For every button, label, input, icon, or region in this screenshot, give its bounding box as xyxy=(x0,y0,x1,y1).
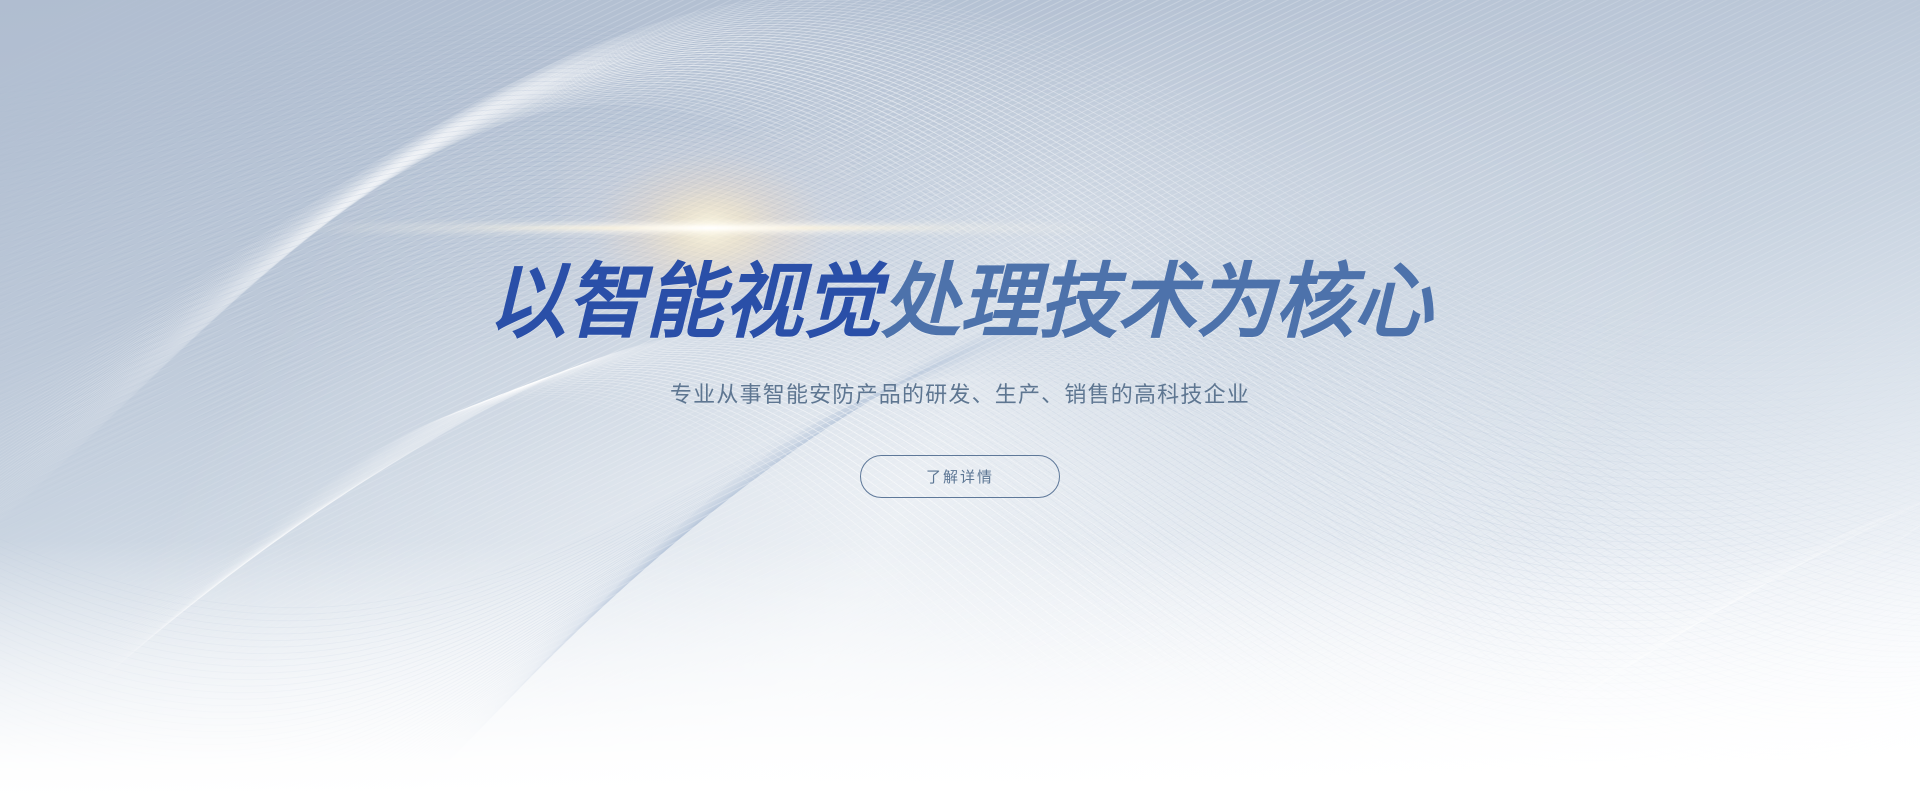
learn-more-button[interactable]: 了解详情 xyxy=(860,455,1060,498)
headline-segment-secondary: 处理技术为核心 xyxy=(881,262,1432,344)
hero-banner: 以智能视觉处理技术为核心 专业从事智能安防产品的研发、生产、销售的高科技企业 了… xyxy=(0,0,1920,800)
headline-segment-primary: 以智能视觉 xyxy=(488,262,882,344)
page-title: 以智能视觉处理技术为核心 xyxy=(488,262,1433,344)
hero-content: 以智能视觉处理技术为核心 专业从事智能安防产品的研发、生产、销售的高科技企业 了… xyxy=(0,0,1920,800)
hero-subtitle: 专业从事智能安防产品的研发、生产、销售的高科技企业 xyxy=(670,380,1250,411)
